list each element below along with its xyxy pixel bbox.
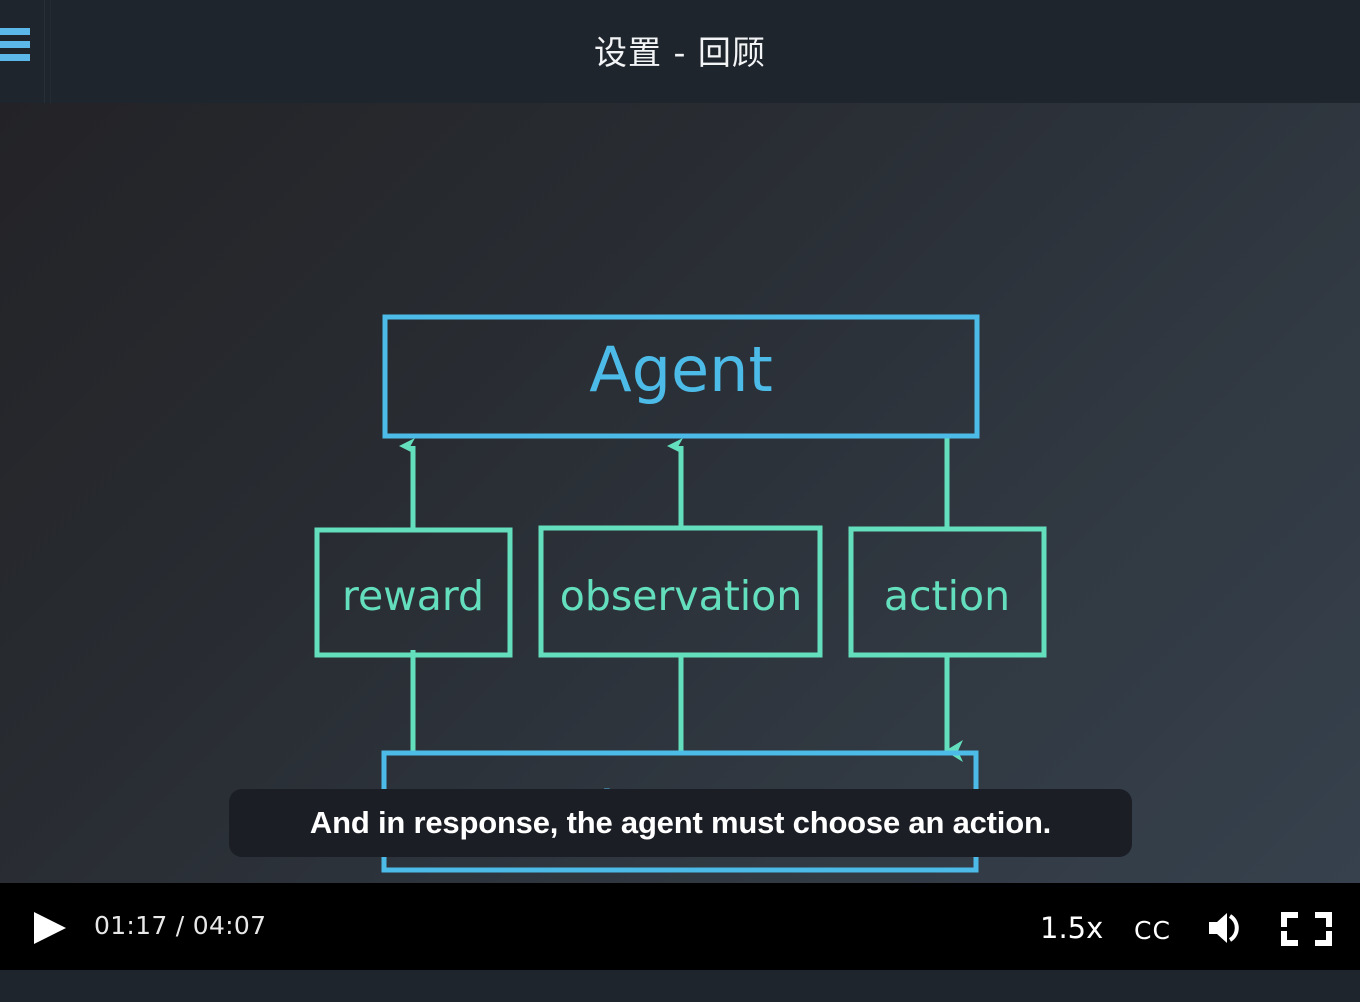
diagram-node-action: action [851, 529, 1044, 655]
rl-loop-diagram: Agent reward observation action Environm… [0, 103, 1360, 883]
diagram-node-reward: reward [317, 530, 510, 655]
page-title: 设置 - 回顾 [0, 26, 1360, 74]
volume-speaker-icon [1207, 910, 1247, 946]
fullscreen-corners-icon [1281, 912, 1360, 946]
subtitle-caption: And in response, the agent must choose a… [229, 789, 1132, 857]
diagram-node-agent: Agent [385, 317, 977, 436]
video-controls-bar: 01:17 / 04:07 1.5x CC [0, 883, 1360, 970]
fullscreen-button[interactable] [1281, 912, 1360, 946]
app-header: 设置 - 回顾 [0, 0, 1360, 103]
diagram-node-observation-label: observation [560, 572, 802, 620]
diagram-node-reward-label: reward [342, 572, 484, 620]
diagram-node-observation: observation [541, 528, 820, 655]
diagram-node-agent-label: Agent [589, 333, 773, 406]
captions-button[interactable]: CC [1134, 916, 1171, 945]
play-button[interactable] [32, 911, 68, 945]
time-display: 01:17 / 04:07 [94, 911, 266, 940]
volume-button[interactable] [1207, 910, 1247, 946]
video-player-page: 设置 - 回顾 [0, 0, 1360, 1002]
page-bottom-strip [0, 970, 1360, 1002]
play-triangle-icon [32, 911, 68, 945]
subtitle-text: And in response, the agent must choose a… [310, 805, 1051, 841]
video-stage[interactable]: Agent reward observation action Environm… [0, 103, 1360, 883]
playback-speed-button[interactable]: 1.5x [1040, 911, 1103, 945]
diagram-node-action-label: action [884, 572, 1010, 620]
